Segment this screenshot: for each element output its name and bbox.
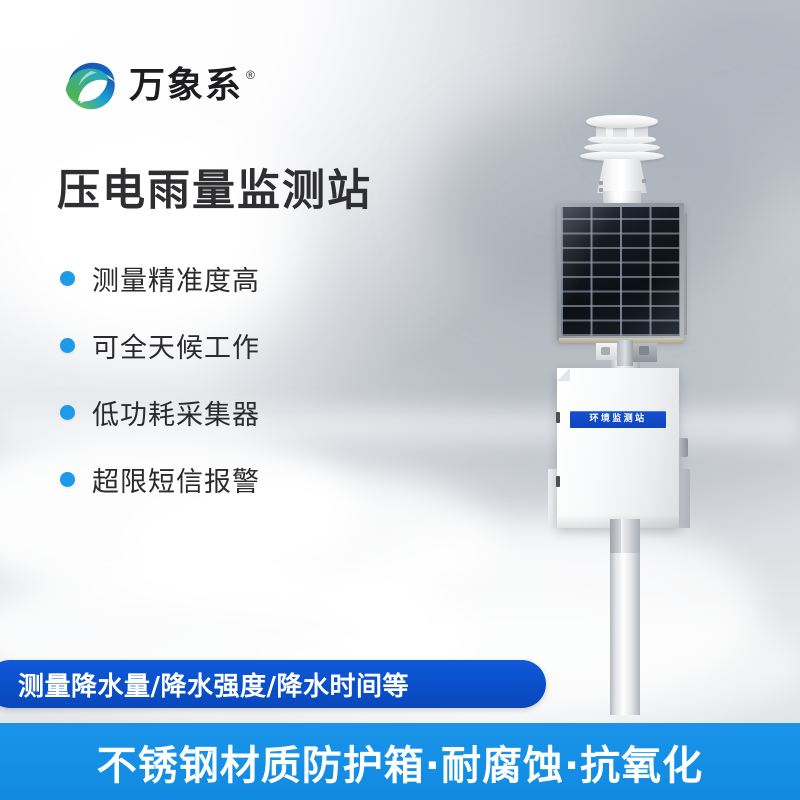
list-item: 低功耗采集器	[60, 393, 260, 432]
globe-swirl-logo-icon	[60, 57, 118, 115]
list-item: 超限短信报警	[60, 460, 260, 499]
bullet-dot-icon	[60, 405, 75, 420]
pole-highlight	[621, 519, 626, 715]
brand-logo: 万象系 ®	[60, 57, 255, 115]
enclosure-label-text: 环境监测站	[589, 415, 646, 424]
highlight-banner: 测量降水量/降水强度/降水时间等	[0, 660, 546, 708]
page-title: 压电雨量监测站	[57, 168, 372, 215]
highlight-banner-text: 测量降水量/降水强度/降水时间等	[18, 666, 409, 703]
feature-label: 可全天候工作	[92, 326, 260, 365]
bullet-dot-icon	[60, 338, 75, 353]
feature-label: 低功耗采集器	[92, 393, 260, 432]
solar-panel-icon	[557, 203, 684, 340]
bullet-dot-icon	[60, 472, 75, 487]
brand-text: 万象系 ®	[129, 68, 255, 104]
footer-banner-text: 不锈钢材质防护箱·耐腐蚀·抗氧化	[97, 733, 703, 791]
footer-banner: 不锈钢材质防护箱·耐腐蚀·抗氧化	[0, 723, 800, 800]
latch-icon	[679, 438, 688, 457]
enclosure-name-plate: 环境监测站	[570, 411, 666, 428]
list-item: 测量精准度高	[60, 259, 260, 298]
feature-label: 测量精准度高	[92, 259, 260, 298]
hinge-icon	[556, 476, 560, 487]
feature-label: 超限短信报警	[92, 460, 260, 499]
product-banner: 万象系 ® 压电雨量监测站 测量精准度高 可全天候工作 低功耗采集器 超限短信报…	[0, 0, 800, 800]
trademark-symbol: ®	[246, 69, 255, 81]
product-image: 环境监测站	[500, 95, 760, 715]
feature-list: 测量精准度高 可全天候工作 低功耗采集器 超限短信报警	[60, 259, 260, 499]
control-enclosure-icon: 环境监测站	[548, 368, 688, 528]
brand-name: 万象系	[129, 68, 243, 104]
list-item: 可全天候工作	[60, 326, 260, 365]
bullet-dot-icon	[60, 271, 75, 286]
hinge-icon	[556, 412, 560, 423]
solar-cell-grid	[561, 207, 680, 336]
